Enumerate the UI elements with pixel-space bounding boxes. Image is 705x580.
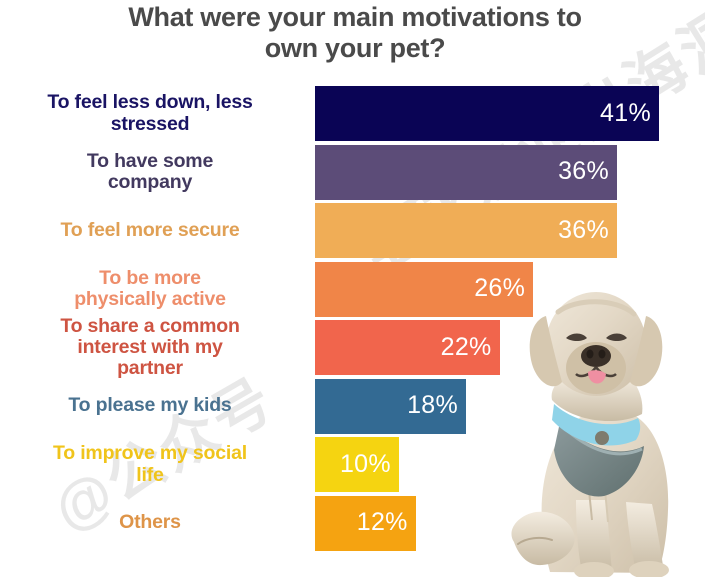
bar: 22% <box>315 320 500 375</box>
bar: 36% <box>315 145 617 200</box>
category-label: To be more physically active <box>0 262 300 317</box>
bar-row: To improve my social life10% <box>0 437 705 495</box>
bar-value-label: 26% <box>474 274 525 303</box>
bar: 10% <box>315 437 399 492</box>
bar-value-label: 36% <box>558 157 609 186</box>
category-label: To feel less down, less stressed <box>0 86 300 141</box>
bar-row: To be more physically active26% <box>0 262 705 320</box>
chart-title: What were your main motivations to own y… <box>50 2 660 65</box>
category-label: Others <box>0 496 300 551</box>
category-label: To share a common interest with my partn… <box>0 320 300 375</box>
bar-row: To feel less down, less stressed41% <box>0 86 705 144</box>
chart-container: What were your main motivations to own y… <box>0 0 705 580</box>
bar: 18% <box>315 379 466 434</box>
bar-value-label: 18% <box>407 391 458 420</box>
bar: 12% <box>315 496 416 551</box>
bar-value-label: 22% <box>441 332 492 361</box>
category-label: To improve my social life <box>0 437 300 492</box>
bar-value-label: 10% <box>340 449 391 478</box>
bar-row: Others12% <box>0 496 705 554</box>
bar: 26% <box>315 262 533 317</box>
bar-value-label: 41% <box>600 98 651 127</box>
bar-row: To feel more secure36% <box>0 203 705 261</box>
category-label: To please my kids <box>0 379 300 434</box>
bar-value-label: 36% <box>558 215 609 244</box>
category-label: To have some company <box>0 145 300 200</box>
bar-row: To have some company36% <box>0 145 705 203</box>
category-label: To feel more secure <box>0 203 300 258</box>
bar: 41% <box>315 86 659 141</box>
bar-chart-plot-area: To feel less down, less stressed41%To ha… <box>0 86 705 574</box>
bar-row: To share a common interest with my partn… <box>0 320 705 378</box>
bar-row: To please my kids18% <box>0 379 705 437</box>
bar-value-label: 12% <box>357 508 408 537</box>
bar: 36% <box>315 203 617 258</box>
